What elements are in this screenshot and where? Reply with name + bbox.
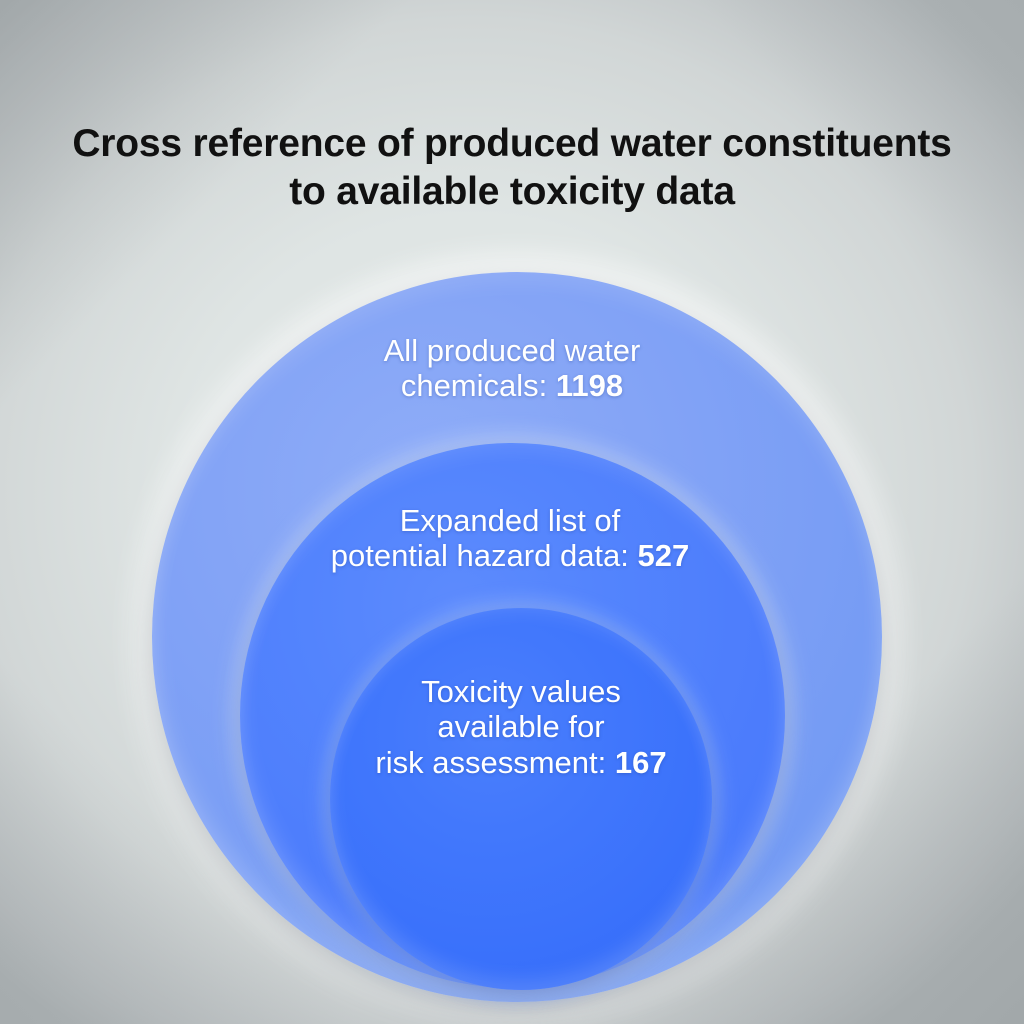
outer-circle-label: All produced water chemicals: 1198 bbox=[322, 333, 702, 404]
venn-diagram-figure: Cross reference of produced water consti… bbox=[0, 0, 1024, 1024]
inner-label-value: 167 bbox=[615, 745, 667, 780]
middle-circle-label: Expanded list of potential hazard data: … bbox=[280, 503, 740, 574]
inner-label-line-2: available for bbox=[437, 709, 604, 744]
inner-label-line-3: risk assessment: bbox=[375, 745, 606, 780]
venn-circle-toxicity-values-risk-assessment[interactable] bbox=[330, 608, 712, 990]
inner-circle-label: Toxicity values available for risk asses… bbox=[330, 674, 712, 780]
outer-label-line-2: chemicals: bbox=[401, 368, 547, 403]
figure-title: Cross reference of produced water consti… bbox=[0, 120, 1024, 215]
outer-label-value: 1198 bbox=[556, 368, 623, 403]
middle-label-value: 527 bbox=[638, 538, 690, 573]
middle-label-line-1: Expanded list of bbox=[400, 503, 621, 538]
middle-label-line-2: potential hazard data: bbox=[331, 538, 629, 573]
inner-label-line-1: Toxicity values bbox=[421, 674, 621, 709]
outer-label-line-1: All produced water bbox=[384, 333, 641, 368]
